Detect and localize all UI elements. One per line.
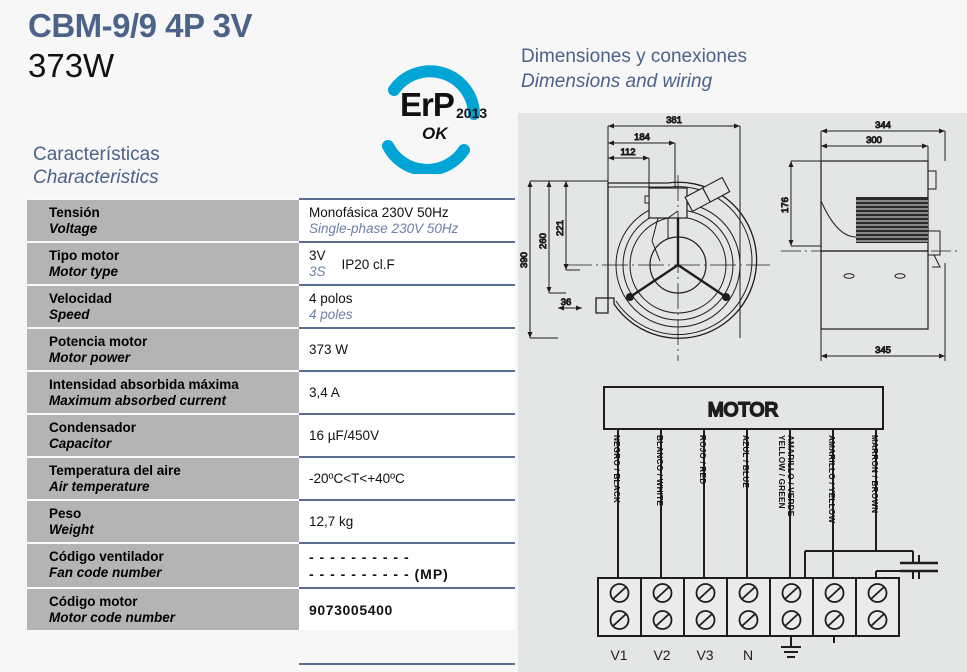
- row-value-es: 16 µF/450V: [309, 428, 379, 444]
- wire-label-azul-blue: AZUL / BLUE: [741, 435, 750, 488]
- table-row: Velocidad Speed 4 polos 4 poles: [27, 284, 515, 327]
- technical-drawing: 381 184 112 390 260: [518, 113, 967, 375]
- table-row: Tipo motor Motor type 3V 3S IP20 cl.F: [27, 241, 515, 284]
- page-title: CBM-9/9 4P 3V: [28, 8, 252, 44]
- dim-381: 381: [666, 115, 682, 126]
- wire-label-rojo-red: ROJO / RED: [698, 435, 707, 484]
- row-label-en: Voltage: [49, 221, 299, 237]
- dim-184: 184: [634, 132, 650, 143]
- row-value: 373 W: [299, 327, 515, 370]
- row-label-en: Maximum absorbed current: [49, 393, 299, 409]
- terminal-block-row: [598, 578, 899, 636]
- wire-label-marron-brown: MARRON / BROWN: [870, 435, 879, 513]
- characteristics-heading-en: Characteristics: [33, 166, 160, 189]
- row-value-en: Single-phase 230V 50Hz: [309, 221, 515, 237]
- table-row: Código motor Motor code number 907300540…: [27, 587, 515, 630]
- wire-label-amarillo-verde: AMARILLO / VERDE: [786, 435, 795, 517]
- row-value: 3V 3S IP20 cl.F: [299, 241, 515, 284]
- row-value-en: 3S: [309, 264, 326, 280]
- row-label: Condensador Capacitor: [27, 413, 299, 456]
- dim-344: 344: [875, 120, 891, 131]
- wire-label-negro-black: NEGRO / BLACK: [612, 435, 621, 503]
- earth-ground-icon: [781, 636, 801, 657]
- row-label-es: Temperatura del aire: [49, 463, 299, 479]
- row-value: 12,7 kg: [299, 499, 515, 542]
- row-value-en: 4 poles: [309, 307, 515, 323]
- row-label-es: Condensador: [49, 420, 299, 436]
- row-label: Tipo motor Motor type: [27, 241, 299, 284]
- terminal-label-v2: V2: [653, 647, 670, 663]
- row-label-es: Potencia motor: [49, 334, 299, 350]
- motor-code-value: 9073005400: [309, 602, 393, 618]
- characteristics-heading: Características Characteristics: [33, 143, 160, 189]
- row-label: Velocidad Speed: [27, 284, 299, 327]
- row-value-es: 3V: [309, 248, 326, 264]
- table-row: Potencia motor Motor power 373 W: [27, 327, 515, 370]
- table-row: Condensador Capacitor 16 µF/450V: [27, 413, 515, 456]
- row-value: 9073005400: [299, 587, 515, 630]
- row-value-es: 12,7 kg: [309, 514, 353, 530]
- row-label: Tensión Voltage: [27, 198, 299, 241]
- row-label: Código motor Motor code number: [27, 587, 299, 630]
- row-label: Intensidad absorbida máxima Maximum abso…: [27, 370, 299, 413]
- row-label: Peso Weight: [27, 499, 299, 542]
- row-value: 16 µF/450V: [299, 413, 515, 456]
- row-label-en: Fan code number: [49, 565, 299, 581]
- row-value-es: Monofásica 230V 50Hz: [309, 205, 515, 221]
- row-value: 4 polos 4 poles: [299, 284, 515, 327]
- row-label-en: Motor power: [49, 350, 299, 366]
- fan-code-dash-2: - - - - - - - - - - (MP): [309, 566, 515, 583]
- row-label: Potencia motor Motor power: [27, 327, 299, 370]
- erp-status: OK: [422, 124, 448, 144]
- row-label-en: Motor code number: [49, 610, 299, 626]
- table-row: Peso Weight 12,7 kg: [27, 499, 515, 542]
- wire-label-amarillo-yellow: AMARILLO / YELLOW: [827, 435, 836, 523]
- row-label-es: Tensión: [49, 205, 299, 221]
- erp-year: 2013: [456, 105, 487, 121]
- wire-label-yellow-green: YELLOW / GREEN: [777, 435, 786, 509]
- dim-221: 221: [555, 220, 566, 236]
- row-value-es: 4 polos: [309, 291, 515, 307]
- row-label-es: Peso: [49, 506, 299, 522]
- row-label-en: Motor type: [49, 264, 299, 280]
- row-value-es: 373 W: [309, 342, 348, 358]
- dim-112: 112: [620, 147, 635, 158]
- drawings-panel: 381 184 112 390 260: [518, 113, 967, 672]
- row-label-es: Velocidad: [49, 291, 299, 307]
- fan-code-dash-1: - - - - - - - - - -: [309, 549, 515, 566]
- terminal-label-v3: V3: [696, 647, 713, 663]
- dimensions-heading: Dimensiones y conexiones Dimensions and …: [521, 44, 747, 94]
- table-row: Temperatura del aire Air temperature -20…: [27, 456, 515, 499]
- table-bottom-rule: [299, 663, 515, 665]
- terminal-label-n: N: [743, 647, 753, 663]
- table-row: Tensión Voltage Monofásica 230V 50Hz Sin…: [27, 198, 515, 241]
- row-label-en: Weight: [49, 522, 299, 538]
- row-value: Monofásica 230V 50Hz Single-phase 230V 5…: [299, 198, 515, 241]
- row-label-es: Código motor: [49, 594, 299, 610]
- dim-345: 345: [875, 345, 891, 356]
- row-label-en: Capacitor: [49, 436, 299, 452]
- terminal-label-v1: V1: [610, 647, 627, 663]
- dimensions-heading-es: Dimensiones y conexiones: [521, 44, 747, 69]
- row-label-es: Intensidad absorbida máxima: [49, 377, 299, 393]
- page-subtitle-power: 373W: [28, 48, 114, 84]
- row-label: Temperatura del aire Air temperature: [27, 456, 299, 499]
- table-row: Código ventilador Fan code number - - - …: [27, 542, 515, 587]
- dim-300: 300: [866, 135, 882, 146]
- row-value: - - - - - - - - - - - - - - - - - - - - …: [299, 542, 515, 587]
- row-label-es: Código ventilador: [49, 549, 299, 565]
- row-label-es: Tipo motor: [49, 248, 299, 264]
- row-value: 3,4 A: [299, 370, 515, 413]
- dim-176: 176: [780, 197, 791, 213]
- table-row: Intensidad absorbida máxima Maximum abso…: [27, 370, 515, 413]
- row-value-es: -20ºC<T<+40ºC: [309, 471, 405, 487]
- row-label: Código ventilador Fan code number: [27, 542, 299, 587]
- characteristics-table: Tensión Voltage Monofásica 230V 50Hz Sin…: [27, 198, 515, 630]
- row-value-es: 3,4 A: [309, 385, 340, 401]
- row-value-extra: IP20 cl.F: [342, 257, 395, 272]
- row-label-en: Air temperature: [49, 479, 299, 495]
- datasheet-page: CBM-9/9 4P 3V 373W ErP 2013 OK Caracterí…: [0, 0, 967, 672]
- erp-logo: ErP 2013 OK: [372, 62, 492, 174]
- wire-label-blanco-white: BLANCO / WHITE: [655, 435, 664, 506]
- characteristics-heading-es: Características: [33, 143, 160, 166]
- dim-390: 390: [519, 252, 530, 268]
- dim-36: 36: [561, 297, 572, 308]
- motor-box-label: MOTOR: [708, 400, 778, 421]
- dim-260: 260: [538, 233, 549, 249]
- erp-label: ErP: [400, 88, 454, 121]
- row-label-en: Speed: [49, 307, 299, 323]
- dimensions-heading-en: Dimensions and wiring: [521, 69, 747, 94]
- motor-type-pair: 3V 3S: [309, 248, 326, 280]
- wiring-diagram: MOTOR: [518, 375, 967, 672]
- row-value: -20ºC<T<+40ºC: [299, 456, 515, 499]
